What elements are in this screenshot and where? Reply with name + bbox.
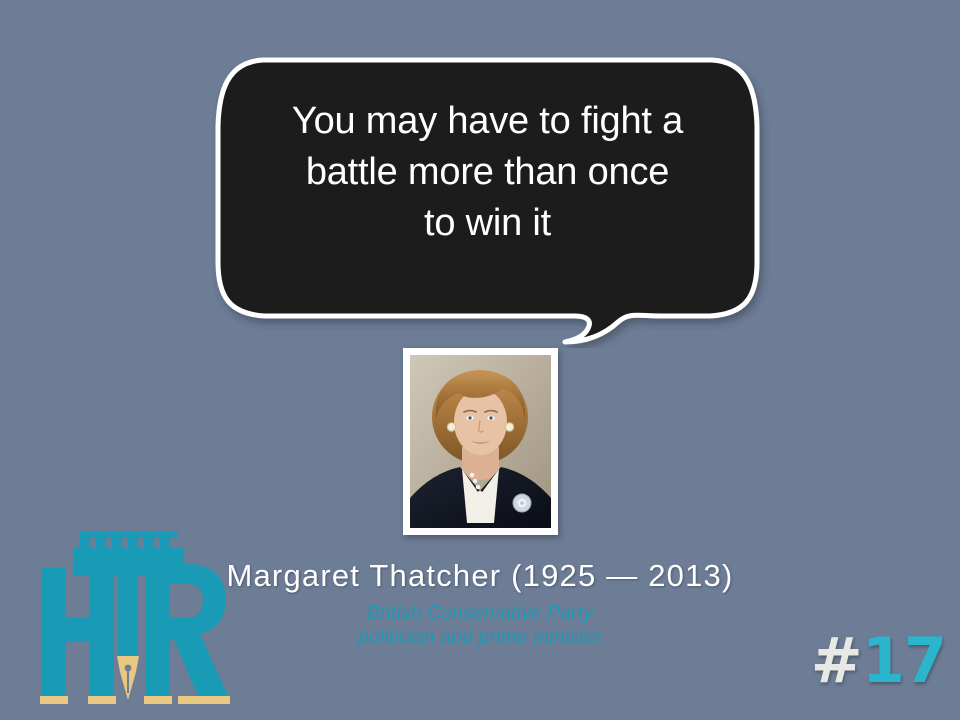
quote-text: You may have to fight a battle more than… bbox=[245, 96, 730, 249]
portrait-illustration bbox=[410, 355, 551, 528]
portrait-frame bbox=[403, 348, 558, 535]
quote-speech-bubble: You may have to fight a battle more than… bbox=[205, 48, 770, 348]
portrait-photo bbox=[410, 355, 551, 528]
logo-pen-nib bbox=[117, 656, 139, 700]
slide-number: #17 bbox=[811, 630, 946, 692]
logo-gold-feet bbox=[40, 696, 230, 704]
logo-letter-h bbox=[42, 568, 114, 696]
htr-logo[interactable] bbox=[28, 532, 238, 704]
htr-logo-mark bbox=[28, 532, 238, 704]
slide-number-value: 17 bbox=[862, 624, 946, 697]
slide-number-hash: # bbox=[811, 624, 862, 697]
slide-canvas: You may have to fight a battle more than… bbox=[0, 0, 960, 720]
logo-letter-r bbox=[146, 564, 228, 696]
